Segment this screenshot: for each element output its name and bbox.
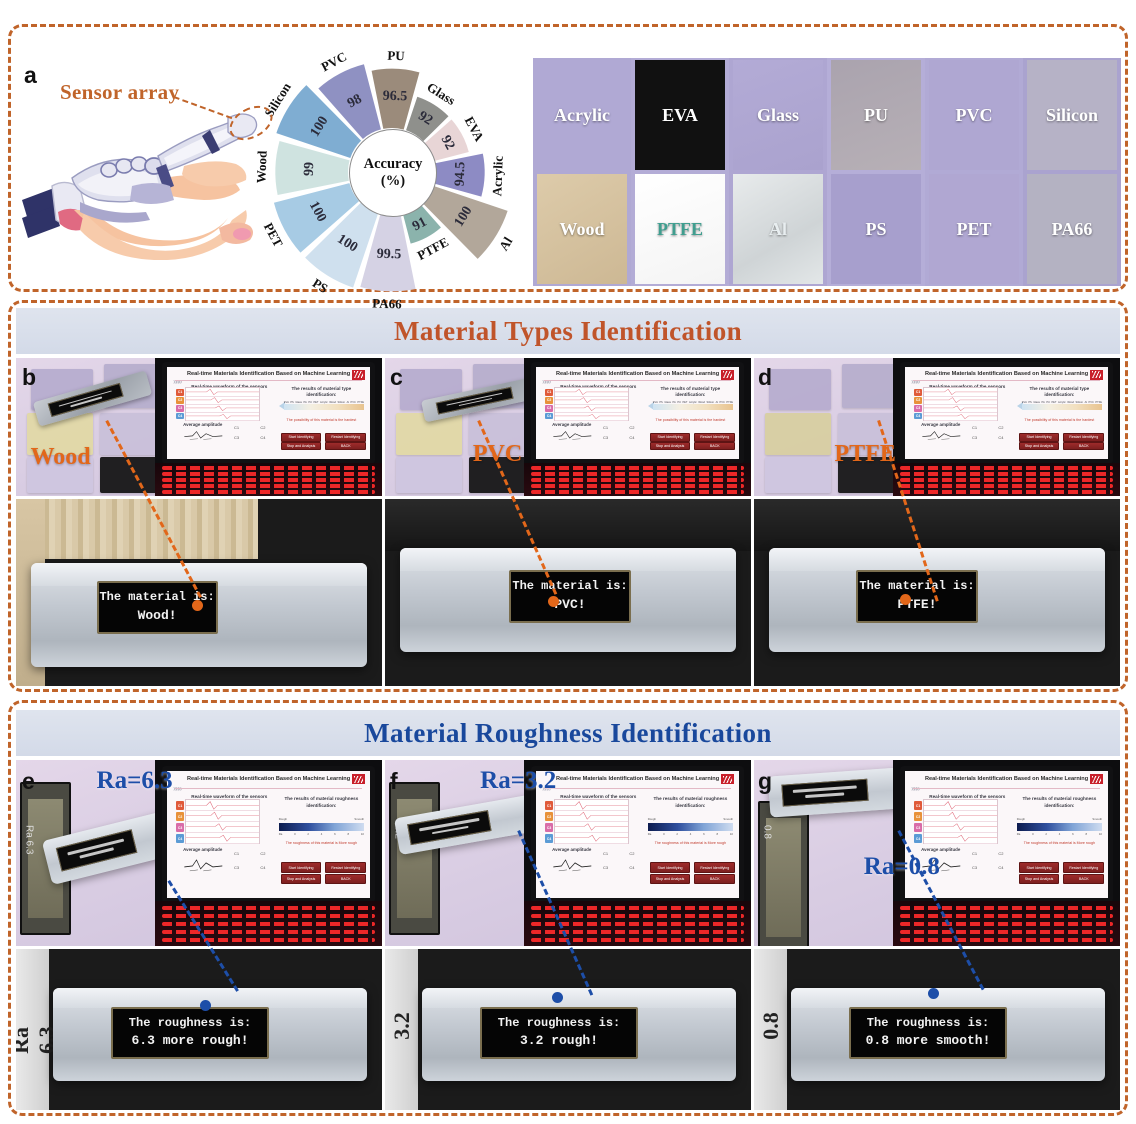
waveform-plot xyxy=(554,387,629,420)
channel-indicator: C4 xyxy=(176,413,184,419)
amplitude-cell-label: C1 xyxy=(603,425,608,430)
type-tick-label: PET xyxy=(1051,401,1056,404)
panel-letter-b: b xyxy=(22,364,36,391)
panel-letter-c: c xyxy=(390,364,403,391)
institution-logo-icon xyxy=(1090,370,1103,380)
chart-segment-value: 94.5 xyxy=(453,162,470,187)
average-amplitude-label: Average amplitude xyxy=(552,422,591,427)
amplitude-cell-label: C2 xyxy=(998,425,1003,430)
sensor-array-label: Sensor array xyxy=(60,80,179,105)
roughness-tick-label: 4 xyxy=(1059,832,1061,836)
amplitude-cell-label: C4 xyxy=(260,865,265,870)
roughness-gradient-bar xyxy=(648,823,733,831)
restart-identifying-button[interactable]: Restart Identifying xyxy=(325,433,366,441)
roughness-gradient-bar xyxy=(279,823,364,831)
material-swatch: Acrylic xyxy=(533,58,631,172)
back-button[interactable]: BACK xyxy=(694,874,735,884)
back-button[interactable]: BACK xyxy=(325,874,366,884)
channel-indicator: C4 xyxy=(545,834,553,843)
roughness-end-label: Smooth xyxy=(1092,817,1102,821)
panel-letter-a: a xyxy=(24,62,37,89)
oled-line-2: 3.2 rough! xyxy=(520,1032,598,1051)
oled-line-1: The material is: xyxy=(512,578,627,595)
amplitude-cell-label: C4 xyxy=(629,865,634,870)
channel-indicator: C1 xyxy=(914,389,922,395)
app-title: Real-time Materials Identification Based… xyxy=(905,776,1108,782)
app-title: Real-time Materials Identification Based… xyxy=(536,371,739,377)
back-button[interactable]: BACK xyxy=(1063,874,1104,884)
laptop: Real-time Materials Identification Based… xyxy=(893,358,1120,496)
amplitude-cell-label: C2 xyxy=(998,851,1003,856)
roughness-end-label: Smooth xyxy=(723,817,733,821)
amplitude-cell-label: C4 xyxy=(998,435,1003,440)
channel-indicator: C1 xyxy=(914,801,922,810)
material-swatch: EVA xyxy=(631,58,729,172)
keyboard-row xyxy=(900,484,1113,488)
roughness-gauge-label: 0.8 xyxy=(758,1013,784,1041)
keyboard-row xyxy=(900,466,1113,470)
material-name-tag: Wood xyxy=(31,444,91,471)
type-tick-label: Al xyxy=(716,401,718,404)
average-amplitude-label: Average amplitude xyxy=(183,422,222,427)
laptop-lid: Real-time Materials Identification Based… xyxy=(162,362,375,464)
roughness-gauge-block: 0.8 xyxy=(754,949,787,1110)
laptop-keyboard[interactable] xyxy=(155,463,382,496)
material-swatch-label: Wood xyxy=(559,219,604,240)
ra-value-tag: Ra=6.3 xyxy=(97,767,173,795)
roughness-tick-label: 4 xyxy=(321,832,323,836)
ra-value-tag: Ra=3.2 xyxy=(480,767,556,795)
material-swatch: Wood xyxy=(533,172,631,286)
amplitude-cell-label: C1 xyxy=(234,425,239,430)
keyboard-row xyxy=(531,906,744,910)
laptop-lid: Real-time Materials Identification Based… xyxy=(162,766,375,904)
waveform-plot xyxy=(923,387,998,420)
roughness-block-label: Ra 6.3 xyxy=(23,825,34,854)
results-section-title: The results of material type identificat… xyxy=(277,386,366,400)
start-identifying-button[interactable]: Start Identifying xyxy=(650,433,691,441)
back-button[interactable]: BACK xyxy=(694,442,735,450)
roughness-bar-endpoints: RoughSmooth xyxy=(279,817,364,821)
oled-line-1: The roughness is: xyxy=(867,1015,989,1032)
oled-line-1: The material is: xyxy=(859,578,974,595)
material-type-probability-bar: EVAPSGlassPAPUPETAcrylicWoodSiliconAlPVC… xyxy=(648,404,733,410)
start-identifying-button[interactable]: Start Identifying xyxy=(281,862,322,872)
banner-material-types: Material Types Identification xyxy=(16,308,1120,354)
keyboard-row xyxy=(531,466,744,470)
keyboard-row xyxy=(900,938,1113,942)
amplitude-cell-label: C3 xyxy=(234,435,239,440)
type-tick-label: PET xyxy=(313,401,318,404)
keyboard-row xyxy=(531,478,744,482)
laptop-lid: Real-time Materials Identification Based… xyxy=(531,766,744,904)
roughness-block-label: 0.8 xyxy=(761,825,772,839)
laptop-lid: Real-time Materials Identification Based… xyxy=(531,362,744,464)
roughness-bar-endpoints: RoughSmooth xyxy=(648,817,733,821)
chart-segment-label: Acrylic xyxy=(489,155,506,196)
laptop-keyboard[interactable] xyxy=(155,901,382,946)
roughness-tick-label: 10 xyxy=(361,832,364,836)
type-tick-label: PS xyxy=(290,401,293,404)
chart-center-line1: Accuracy xyxy=(364,156,423,173)
header-divider xyxy=(175,380,362,381)
type-tick-label: PVC xyxy=(720,401,725,404)
type-tick-label: Acrylic xyxy=(320,401,328,404)
keyboard-row xyxy=(531,914,744,918)
type-tick-label: PET xyxy=(682,401,687,404)
amplitude-cell-label: C3 xyxy=(972,865,977,870)
results-section-title: The results of material type identificat… xyxy=(1015,386,1104,400)
ra-value-tag: Ra=0.8 xyxy=(864,853,940,881)
laptop-screen[interactable]: Real-time Materials Identification Based… xyxy=(167,771,370,899)
material-sample-plate xyxy=(765,413,831,454)
restart-identifying-button[interactable]: Restart Identifying xyxy=(694,862,735,872)
type-tick-label: Al xyxy=(347,401,349,404)
type-tick-label: Acrylic xyxy=(689,401,697,404)
start-identifying-button[interactable]: Start Identifying xyxy=(281,433,322,441)
waveform-trace xyxy=(555,412,628,421)
probe-bevel xyxy=(791,988,1106,1009)
oled-line-2: 6.3 more rough! xyxy=(132,1032,249,1051)
channel-indicator: C3 xyxy=(176,405,184,411)
channel-indicator: C3 xyxy=(545,405,553,411)
photo-cell-closeup: The material is:PTFE! xyxy=(754,499,1120,686)
institution-logo-icon xyxy=(352,370,365,380)
amplitude-cell-label: C3 xyxy=(603,865,608,870)
chart-segment-label: PU xyxy=(387,47,405,64)
roughness-end-label: Rough xyxy=(648,817,656,821)
chart-segment-value: 96.5 xyxy=(382,89,407,106)
results-section-title: The results of material roughness identi… xyxy=(277,796,366,810)
probability-gradient xyxy=(284,404,364,410)
material-type-probability-bar: EVAPSGlassPAPUPETAcrylicWoodSiliconAlPVC… xyxy=(1017,404,1102,410)
roughness-standard-block xyxy=(389,782,441,935)
keyboard-row xyxy=(531,490,744,494)
material-swatch: Silicon xyxy=(1023,58,1121,172)
keyboard-row xyxy=(900,478,1113,482)
amplitude-cell-label: C1 xyxy=(972,851,977,856)
amplitude-cell-label: C1 xyxy=(603,851,608,856)
type-tick-label: PTFE xyxy=(357,401,364,404)
type-result-note: The possibility of this material is the … xyxy=(646,418,735,422)
type-tick-label: PTFE xyxy=(1095,401,1102,404)
keyboard-row xyxy=(162,490,375,494)
stop-and-analysis-button[interactable]: Stop and Analysis xyxy=(281,874,322,884)
identification-app-screen: Real-time Materials Identification Based… xyxy=(167,367,370,459)
header-divider xyxy=(544,380,731,381)
oled-line-2: PVC! xyxy=(554,596,585,615)
institution-logo-icon xyxy=(352,774,365,784)
material-swatch-label: Al xyxy=(769,219,787,240)
roughness-tick-label: 0 xyxy=(663,832,665,836)
chevron-right-icon: »»» xyxy=(911,377,918,386)
restart-identifying-button[interactable]: Restart Identifying xyxy=(1063,862,1104,872)
leader-endpoint-dot xyxy=(200,1000,211,1011)
banner-material-types-label: Material Types Identification xyxy=(394,316,742,347)
keyboard-row xyxy=(531,472,744,476)
probe-bevel xyxy=(400,548,737,571)
stop-and-analysis-button[interactable]: Stop and Analysis xyxy=(1019,874,1060,884)
photo-cell-roughness-closeup: Ra 6.3The roughness is:6.3 more rough! xyxy=(16,949,382,1110)
header-divider xyxy=(544,788,731,789)
roughness-tick-label: Ra xyxy=(279,832,283,836)
laptop: Real-time Materials Identification Based… xyxy=(524,358,751,496)
laptop: Real-time Materials Identification Based… xyxy=(155,358,382,496)
keyboard-row xyxy=(900,906,1113,910)
device-oled-display xyxy=(781,779,868,807)
type-tick-label: Wood xyxy=(329,401,336,404)
roughness-tick-label: 0 xyxy=(1032,832,1034,836)
channel-indicator: C1 xyxy=(176,389,184,395)
laptop-lid: Real-time Materials Identification Based… xyxy=(900,362,1113,464)
photo-cell-roughness-closeup: 3.2The roughness is:3.2 rough! xyxy=(385,949,751,1110)
chevron-right-icon: »»» xyxy=(173,377,180,386)
banner-material-roughness-label: Material Roughness Identification xyxy=(364,718,772,749)
roughness-result-note: The roughness of this material is More r… xyxy=(277,841,366,845)
institution-logo-icon xyxy=(721,774,734,784)
roughness-tick-label: Ra xyxy=(1017,832,1021,836)
keyboard-row xyxy=(531,938,744,942)
roughness-tick-label: 6 xyxy=(334,832,336,836)
material-swatch-label: EVA xyxy=(662,105,698,126)
roughness-end-label: Smooth xyxy=(354,817,364,821)
leader-endpoint-dot xyxy=(552,992,563,1003)
leader-endpoint-dot xyxy=(928,988,939,999)
back-button[interactable]: BACK xyxy=(325,442,366,450)
roughness-scale: Ra0246810 xyxy=(648,832,733,836)
material-swatch-label: PU xyxy=(864,105,888,126)
roughness-gauge-block: Ra 6.3 xyxy=(16,949,49,1110)
channel-indicator: C4 xyxy=(176,834,184,843)
laptop: Real-time Materials Identification Based… xyxy=(155,760,382,946)
roughness-tick-label: 0 xyxy=(294,832,296,836)
roughness-gradient-bar xyxy=(1017,823,1102,831)
roughness-end-label: Rough xyxy=(1017,817,1025,821)
type-tick-label: Wood xyxy=(698,401,705,404)
photo-cell-closeup: The material is:PVC! xyxy=(385,499,751,686)
panel-letter-d: d xyxy=(758,364,772,391)
roughness-tick-label: 8 xyxy=(348,832,350,836)
material-swatch-label: Acrylic xyxy=(554,105,610,126)
waveform-trace xyxy=(555,832,628,844)
type-tick-label: PS xyxy=(659,401,662,404)
roughness-result-note: The roughness of this material is More r… xyxy=(646,841,735,845)
channel-indicator: C2 xyxy=(176,397,184,403)
type-tick-label: PS xyxy=(1028,401,1031,404)
material-type-probability-bar: EVAPSGlassPAPUPETAcrylicWoodSiliconAlPVC… xyxy=(279,404,364,410)
chart-segment-label: PA66 xyxy=(372,296,402,313)
channel-indicator: C4 xyxy=(545,413,553,419)
probe-bevel xyxy=(422,988,737,1009)
channel-indicator: C4 xyxy=(914,834,922,843)
wood-sample xyxy=(38,499,258,559)
start-identifying-button[interactable]: Start Identifying xyxy=(650,862,691,872)
material-sample-plate xyxy=(765,457,831,493)
waveform-plot xyxy=(185,387,260,420)
device-oled-display xyxy=(56,829,138,871)
closeup-background: 0.8The roughness is:0.8 more smooth! xyxy=(754,949,1120,1110)
photo-cell-roughness-bench: Ra 6.3Ra=6.3Real-time Materials Identifi… xyxy=(16,760,382,946)
keyboard-row xyxy=(900,472,1113,476)
results-section-title: The results of material roughness identi… xyxy=(1015,796,1104,810)
material-swatch-label: PA66 xyxy=(1052,219,1093,240)
restart-identifying-button[interactable]: Restart Identifying xyxy=(694,433,735,441)
chevron-right-icon: »»» xyxy=(542,377,549,386)
chart-center-line2: (%) xyxy=(381,173,405,190)
stop-and-analysis-button[interactable]: Stop and Analysis xyxy=(1019,442,1060,450)
roughness-tick-label: 8 xyxy=(717,832,719,836)
identification-app-screen: Real-time Materials Identification Based… xyxy=(536,367,739,459)
oled-result-display: The material is:PTFE! xyxy=(856,570,977,623)
type-tick-label: Silicon xyxy=(337,401,345,404)
amplitude-cell-label: C2 xyxy=(629,851,634,856)
keyboard-row xyxy=(162,478,375,482)
roughness-tick-label: 10 xyxy=(730,832,733,836)
photo-cell-bench: WoodReal-time Materials Identification B… xyxy=(16,358,382,496)
material-swatch: PA66 xyxy=(1023,172,1121,286)
back-button[interactable]: BACK xyxy=(1063,442,1104,450)
waveform-trace xyxy=(924,832,997,844)
laptop-screen[interactable]: Real-time Materials Identification Based… xyxy=(536,367,739,459)
type-tick-label: PVC xyxy=(351,401,356,404)
laptop-screen[interactable]: Real-time Materials Identification Based… xyxy=(905,367,1108,459)
accuracy-radial-chart: Accuracy (%) 96.5PU92Glass92EVA94.5Acryl… xyxy=(258,52,526,292)
average-amplitude-label: Average amplitude xyxy=(921,422,960,427)
photo-cell-roughness-closeup: 0.8The roughness is:0.8 more smooth! xyxy=(754,949,1120,1110)
app-title: Real-time Materials Identification Based… xyxy=(167,371,370,377)
leader-endpoint-dot xyxy=(548,596,559,607)
roughness-tick-label: 6 xyxy=(703,832,705,836)
oled-result-display: The material is:PVC! xyxy=(509,570,630,623)
roughness-scale: Ra0246810 xyxy=(279,832,364,836)
sample-backdrop xyxy=(385,499,751,551)
amplitude-cell-label: C3 xyxy=(603,435,608,440)
keyboard-row xyxy=(162,484,375,488)
keyboard-row xyxy=(162,930,375,934)
roughness-tick-label: Ra xyxy=(648,832,652,836)
laptop-screen[interactable]: Real-time Materials Identification Based… xyxy=(167,367,370,459)
leader-endpoint-dot xyxy=(900,594,911,605)
stop-and-analysis-button[interactable]: Stop and Analysis xyxy=(650,442,691,450)
material-swatch: PET xyxy=(925,172,1023,286)
laptop-keyboard[interactable] xyxy=(893,463,1120,496)
institution-logo-icon xyxy=(1090,774,1103,784)
leader-endpoint-dot xyxy=(192,600,203,611)
type-tick-label: PA xyxy=(673,401,676,404)
start-identifying-button[interactable]: Start Identifying xyxy=(1019,862,1060,872)
type-tick-label: Silicon xyxy=(1075,401,1083,404)
start-identifying-button[interactable]: Start Identifying xyxy=(1019,433,1060,441)
laptop-keyboard[interactable] xyxy=(893,901,1120,946)
oled-line-1: The roughness is: xyxy=(129,1015,251,1032)
average-amplitude-curve xyxy=(552,855,593,873)
photo-cell-bench: PVCReal-time Materials Identification Ba… xyxy=(385,358,751,496)
amplitude-cell-label: C3 xyxy=(234,865,239,870)
material-swatch-grid: AcrylicEVAGlassPUPVCSiliconWoodPTFEAlPSP… xyxy=(533,58,1121,286)
keyboard-row xyxy=(531,484,744,488)
material-swatch: PVC xyxy=(925,58,1023,172)
type-tick-label: PA xyxy=(1042,401,1045,404)
results-section-title: The results of material type identificat… xyxy=(646,386,735,400)
panel-letter-g: g xyxy=(758,768,772,795)
type-tick-label: PTFE xyxy=(726,401,733,404)
header-divider xyxy=(913,788,1100,789)
channel-indicator: C2 xyxy=(545,812,553,821)
restart-identifying-button[interactable]: Restart Identifying xyxy=(1063,433,1104,441)
material-swatch: Glass xyxy=(729,58,827,172)
material-swatch-label: PS xyxy=(865,219,886,240)
panel-letter-e: e xyxy=(22,768,35,795)
roughness-tick-label: 6 xyxy=(1072,832,1074,836)
material-sample-plate xyxy=(769,369,831,410)
amplitude-cell-label: C2 xyxy=(260,425,265,430)
type-tick-label: PU xyxy=(1046,401,1050,404)
material-swatch: Al xyxy=(729,172,827,286)
photo-cell-roughness-bench: 3.2Ra=3.2Real-time Materials Identificat… xyxy=(385,760,751,946)
roughness-tick-label: 8 xyxy=(1086,832,1088,836)
roughness-result-note: The roughness of this material is More r… xyxy=(1015,841,1104,845)
restart-identifying-button[interactable]: Restart Identifying xyxy=(325,862,366,872)
waveform-trace xyxy=(924,412,997,421)
roughness-tick-label: 2 xyxy=(676,832,678,836)
channel-indicator: C3 xyxy=(914,823,922,832)
laptop-keyboard[interactable] xyxy=(524,463,751,496)
oled-result-display: The roughness is:3.2 rough! xyxy=(480,1007,638,1059)
results-section-title: The results of material roughness identi… xyxy=(646,796,735,810)
material-swatch-label: PTFE xyxy=(657,219,703,240)
average-amplitude-label: Average amplitude xyxy=(921,847,960,852)
laptop-screen[interactable]: Real-time Materials Identification Based… xyxy=(536,771,739,899)
sample-backdrop xyxy=(754,499,1120,551)
material-swatch: PU xyxy=(827,58,925,172)
average-amplitude-curve xyxy=(183,428,224,441)
channel-indicator: C2 xyxy=(545,397,553,403)
average-amplitude-curve xyxy=(921,428,962,441)
waveform-trace xyxy=(186,832,259,844)
type-tick-label: PU xyxy=(308,401,312,404)
roughness-tick-label: 2 xyxy=(307,832,309,836)
keyboard-row xyxy=(162,466,375,470)
photo-cell-roughness-bench: 0.8Ra=0.8Real-time Materials Identificat… xyxy=(754,760,1120,946)
channel-indicator: C3 xyxy=(176,823,184,832)
type-result-note: The possibility of this material is the … xyxy=(1015,418,1104,422)
amplitude-cell-label: C1 xyxy=(972,425,977,430)
roughness-standard-block xyxy=(758,801,810,946)
channel-indicator: C3 xyxy=(545,823,553,832)
keyboard-row xyxy=(900,914,1113,918)
material-type-ticks: EVAPSGlassPAPUPETAcrylicWoodSiliconAlPVC… xyxy=(284,401,364,404)
app-title: Real-time Materials Identification Based… xyxy=(167,776,370,782)
stop-and-analysis-button[interactable]: Stop and Analysis xyxy=(650,874,691,884)
roughness-scale: Ra0246810 xyxy=(1017,832,1102,836)
material-swatch: PTFE xyxy=(631,172,729,286)
material-types-photo-grid: WoodReal-time Materials Identification B… xyxy=(16,358,1120,686)
closeup-background: 3.2The roughness is:3.2 rough! xyxy=(385,949,751,1110)
type-tick-label: Acrylic xyxy=(1058,401,1066,404)
oled-line-2: Wood! xyxy=(138,607,177,626)
type-tick-label: Glass xyxy=(1033,401,1040,404)
channel-indicator: C1 xyxy=(545,801,553,810)
channel-indicator: C2 xyxy=(914,397,922,403)
amplitude-cell-label: C2 xyxy=(260,851,265,856)
stop-and-analysis-button[interactable]: Stop and Analysis xyxy=(281,442,322,450)
chart-segment-value: 99.5 xyxy=(377,247,402,264)
amplitude-cell-label: C2 xyxy=(629,425,634,430)
roughness-gauge-block: 3.2 xyxy=(385,949,418,1110)
identification-app-screen: Real-time Materials Identification Based… xyxy=(167,771,370,899)
material-swatch-label: Glass xyxy=(757,105,799,126)
device-oled-display xyxy=(407,810,491,845)
